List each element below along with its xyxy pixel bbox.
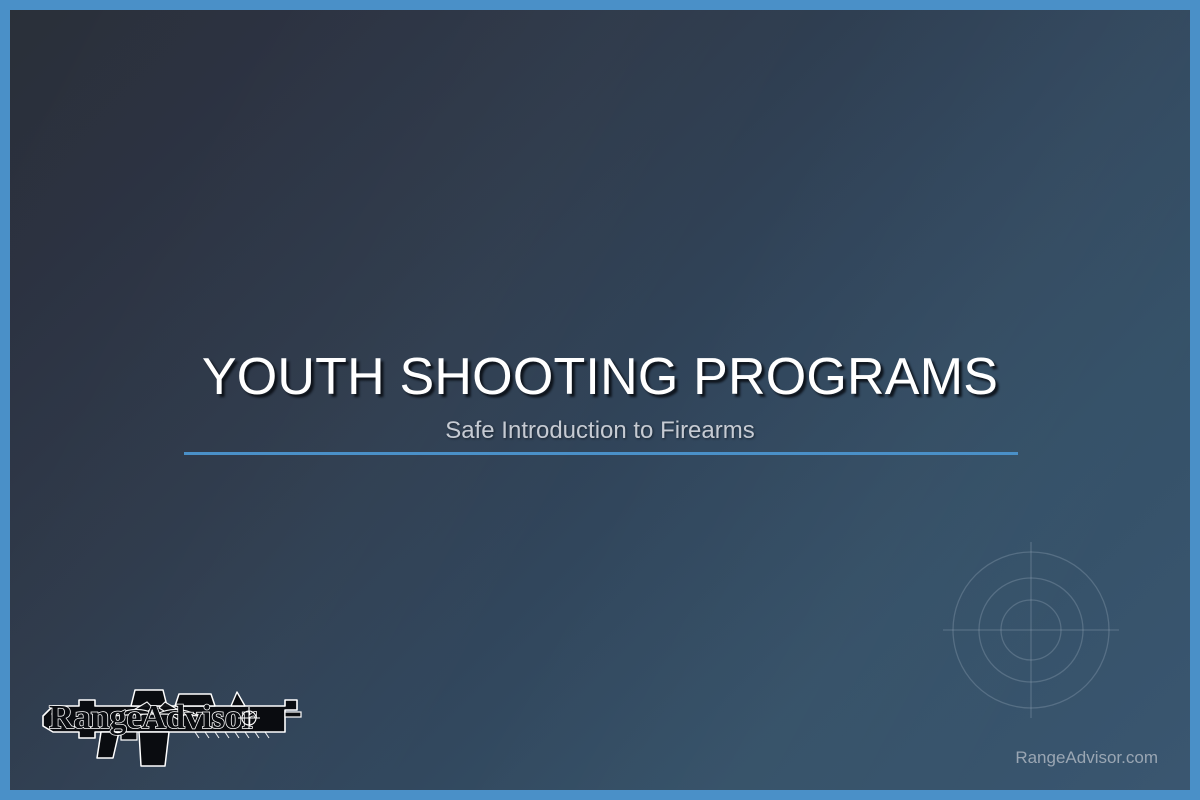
page-title: YOUTH SHOOTING PROGRAMS (10, 347, 1190, 407)
slide-canvas: YOUTH SHOOTING PROGRAMS Safe Introductio… (10, 10, 1190, 790)
rangeadvisor-logo[interactable]: RangeAdvisor (35, 670, 305, 770)
slide-root: YOUTH SHOOTING PROGRAMS Safe Introductio… (0, 0, 1200, 800)
footer-website: RangeAdvisor.com (1015, 748, 1158, 768)
page-subtitle: Safe Introduction to Firearms (10, 417, 1190, 445)
title-divider (184, 452, 1018, 455)
logo-wordmark: RangeAdvisor (49, 699, 257, 736)
